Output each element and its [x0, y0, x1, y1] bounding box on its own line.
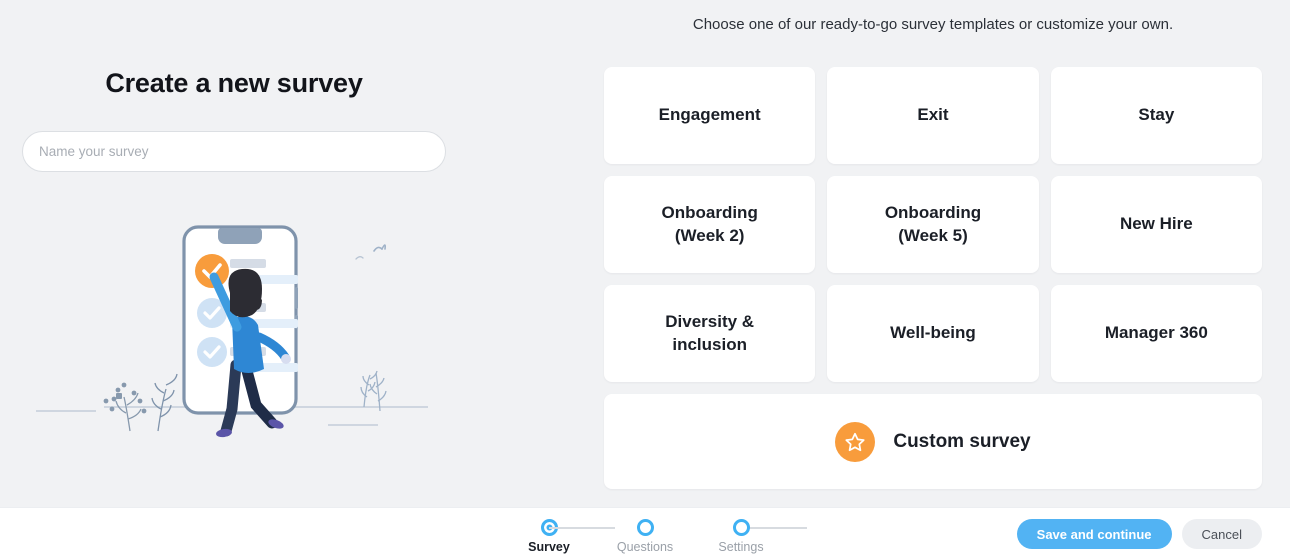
- page-title: Create a new survey: [0, 68, 468, 99]
- template-card-diversity-inclusion[interactable]: Diversity & inclusion: [604, 285, 815, 382]
- template-card-well-being[interactable]: Well-being: [827, 285, 1038, 382]
- save-and-continue-button[interactable]: Save and continue: [1017, 519, 1172, 549]
- template-card-exit[interactable]: Exit: [827, 67, 1038, 164]
- template-card-custom-survey[interactable]: Custom survey: [604, 394, 1262, 489]
- checklist-illustration: [18, 215, 448, 445]
- template-card-onboarding-week-2[interactable]: Onboarding (Week 2): [604, 176, 815, 273]
- step-questions-label: Questions: [597, 540, 693, 554]
- template-grid: Engagement Exit Stay Onboarding (Week 2)…: [604, 67, 1262, 489]
- step-settings-label: Settings: [693, 540, 789, 554]
- survey-name-input[interactable]: [22, 131, 446, 172]
- star-icon: [835, 422, 875, 462]
- template-card-engagement[interactable]: Engagement: [604, 67, 815, 164]
- step-questions[interactable]: Questions: [597, 519, 693, 554]
- templates-subtitle: Choose one of our ready-to-go survey tem…: [604, 16, 1262, 33]
- template-selection-panel: Choose one of our ready-to-go survey tem…: [604, 0, 1262, 507]
- template-card-manager-360[interactable]: Manager 360: [1051, 285, 1262, 382]
- step-survey[interactable]: Survey: [501, 519, 597, 554]
- survey-setup-panel: Create a new survey: [0, 0, 600, 507]
- cancel-button[interactable]: Cancel: [1182, 519, 1262, 549]
- footer-bar: Survey Questions Settings Save and conti…: [0, 507, 1290, 559]
- step-questions-dot[interactable]: [637, 519, 654, 536]
- template-card-stay[interactable]: Stay: [1051, 67, 1262, 164]
- step-settings-dot[interactable]: [733, 519, 750, 536]
- step-survey-label: Survey: [501, 540, 597, 554]
- template-card-new-hire[interactable]: New Hire: [1051, 176, 1262, 273]
- template-card-onboarding-week-5[interactable]: Onboarding (Week 5): [827, 176, 1038, 273]
- step-settings[interactable]: Settings: [693, 519, 789, 554]
- custom-survey-label: Custom survey: [893, 431, 1030, 453]
- footer-actions: Save and continue Cancel: [1017, 519, 1262, 549]
- create-survey-page: Create a new survey: [0, 0, 1290, 559]
